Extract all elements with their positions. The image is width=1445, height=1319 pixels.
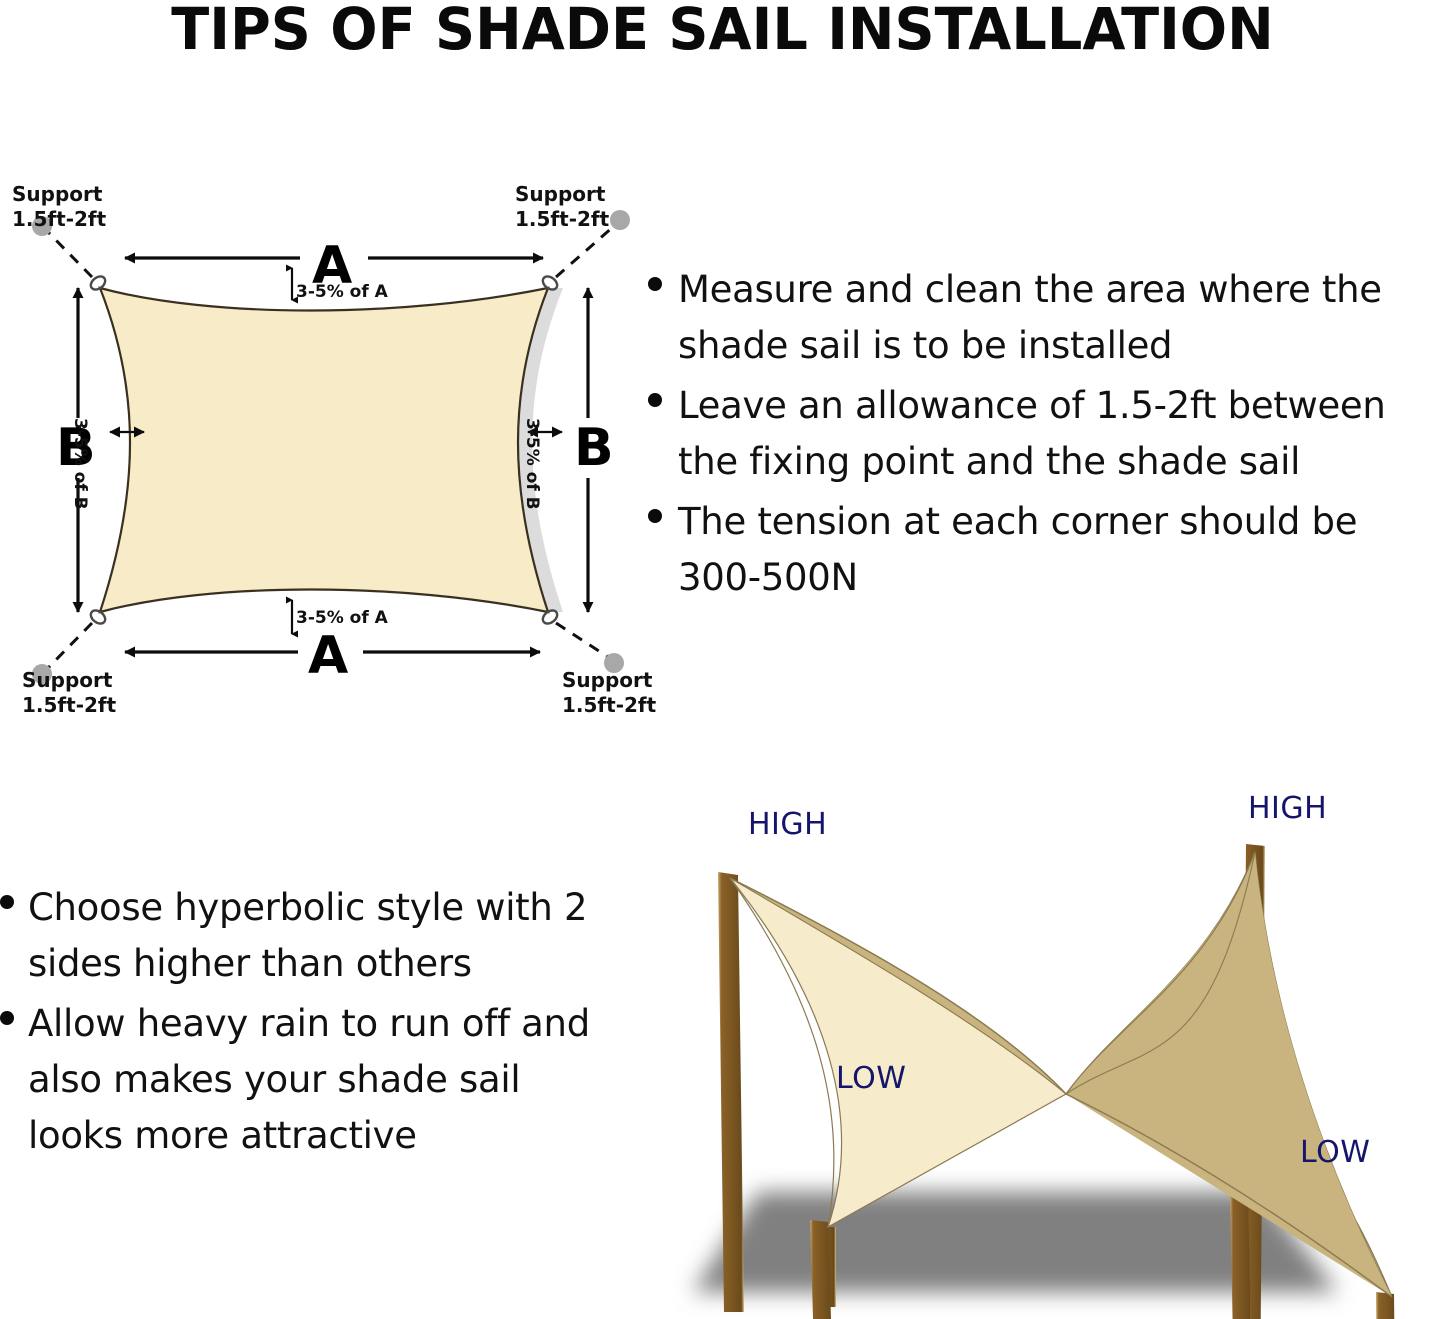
support-label-line1: Support	[562, 668, 656, 693]
support-label-line1: Support	[22, 668, 116, 693]
support-label-line2: 1.5ft-2ft	[22, 693, 116, 718]
hyperbolic-bullet-list: Choose hyperbolic style with 2 sides hig…	[0, 880, 640, 1164]
hyperbolic-note-text: Allow heavy rain to run off and also mak…	[28, 996, 598, 1164]
curvature-label-b-right: 3-5% of B	[522, 418, 542, 510]
bullet-dot-icon	[0, 895, 14, 909]
label-high-left: HIGH	[748, 810, 827, 840]
curvature-label-a-top: 3-5% of A	[296, 282, 388, 302]
tip-text: The tension at each corner should be 300…	[678, 494, 1445, 606]
support-label-top-right: Support 1.5ft-2ft	[515, 182, 609, 232]
hyperbolic-sail-diagram: HIGH HIGH LOW LOW	[648, 772, 1445, 1319]
tip-text: Measure and clean the area where the sha…	[678, 262, 1445, 374]
page-title: TIPS OF SHADE SAIL INSTALLATION	[29, 0, 1416, 62]
list-item: Choose hyperbolic style with 2 sides hig…	[0, 880, 640, 992]
curvature-label-a-bottom: 3-5% of A	[296, 608, 388, 628]
list-item: The tension at each corner should be 300…	[648, 494, 1445, 606]
support-label-top-left: Support 1.5ft-2ft	[12, 182, 106, 232]
support-label-line2: 1.5ft-2ft	[515, 207, 609, 232]
support-label-bottom-left: Support 1.5ft-2ft	[22, 668, 116, 718]
bullet-dot-icon	[648, 393, 662, 407]
curvature-label-b-left: 3-5% of B	[70, 418, 90, 510]
list-item: Allow heavy rain to run off and also mak…	[0, 996, 640, 1164]
label-high-right: HIGH	[1248, 794, 1327, 824]
dimension-letter-a-bottom: A	[308, 630, 348, 682]
hyperbolic-style-notes-list: Choose hyperbolic style with 2 sides hig…	[0, 880, 640, 1210]
support-label-bottom-right: Support 1.5ft-2ft	[562, 668, 656, 718]
sail-shape	[100, 288, 548, 612]
support-label-line2: 1.5ft-2ft	[12, 207, 106, 232]
dimension-letter-b-right: B	[574, 422, 614, 474]
hyperbolic-sail-svg	[648, 772, 1445, 1319]
list-item: Measure and clean the area where the sha…	[648, 262, 1445, 374]
bullet-dot-icon	[648, 509, 662, 523]
hyperbolic-note-text: Choose hyperbolic style with 2 sides hig…	[28, 880, 598, 992]
post-low-right	[1376, 1292, 1397, 1319]
tip-text: Leave an allowance of 1.5-2ft between th…	[678, 378, 1445, 490]
tips-bullet-list: Measure and clean the area where the sha…	[648, 262, 1445, 606]
installation-tips-list: Measure and clean the area where the sha…	[648, 262, 1445, 662]
label-low-right: LOW	[1300, 1138, 1370, 1168]
label-low-left: LOW	[836, 1064, 906, 1094]
list-item: Leave an allowance of 1.5-2ft between th…	[648, 378, 1445, 490]
bullet-dot-icon	[648, 277, 662, 291]
post-high-left	[718, 872, 744, 1312]
support-label-line1: Support	[12, 182, 106, 207]
support-label-line2: 1.5ft-2ft	[562, 693, 656, 718]
support-label-line1: Support	[515, 182, 609, 207]
bullet-dot-icon	[0, 1011, 14, 1025]
rectangular-sail-diagram: Support 1.5ft-2ft Support 1.5ft-2ft Supp…	[0, 160, 660, 740]
